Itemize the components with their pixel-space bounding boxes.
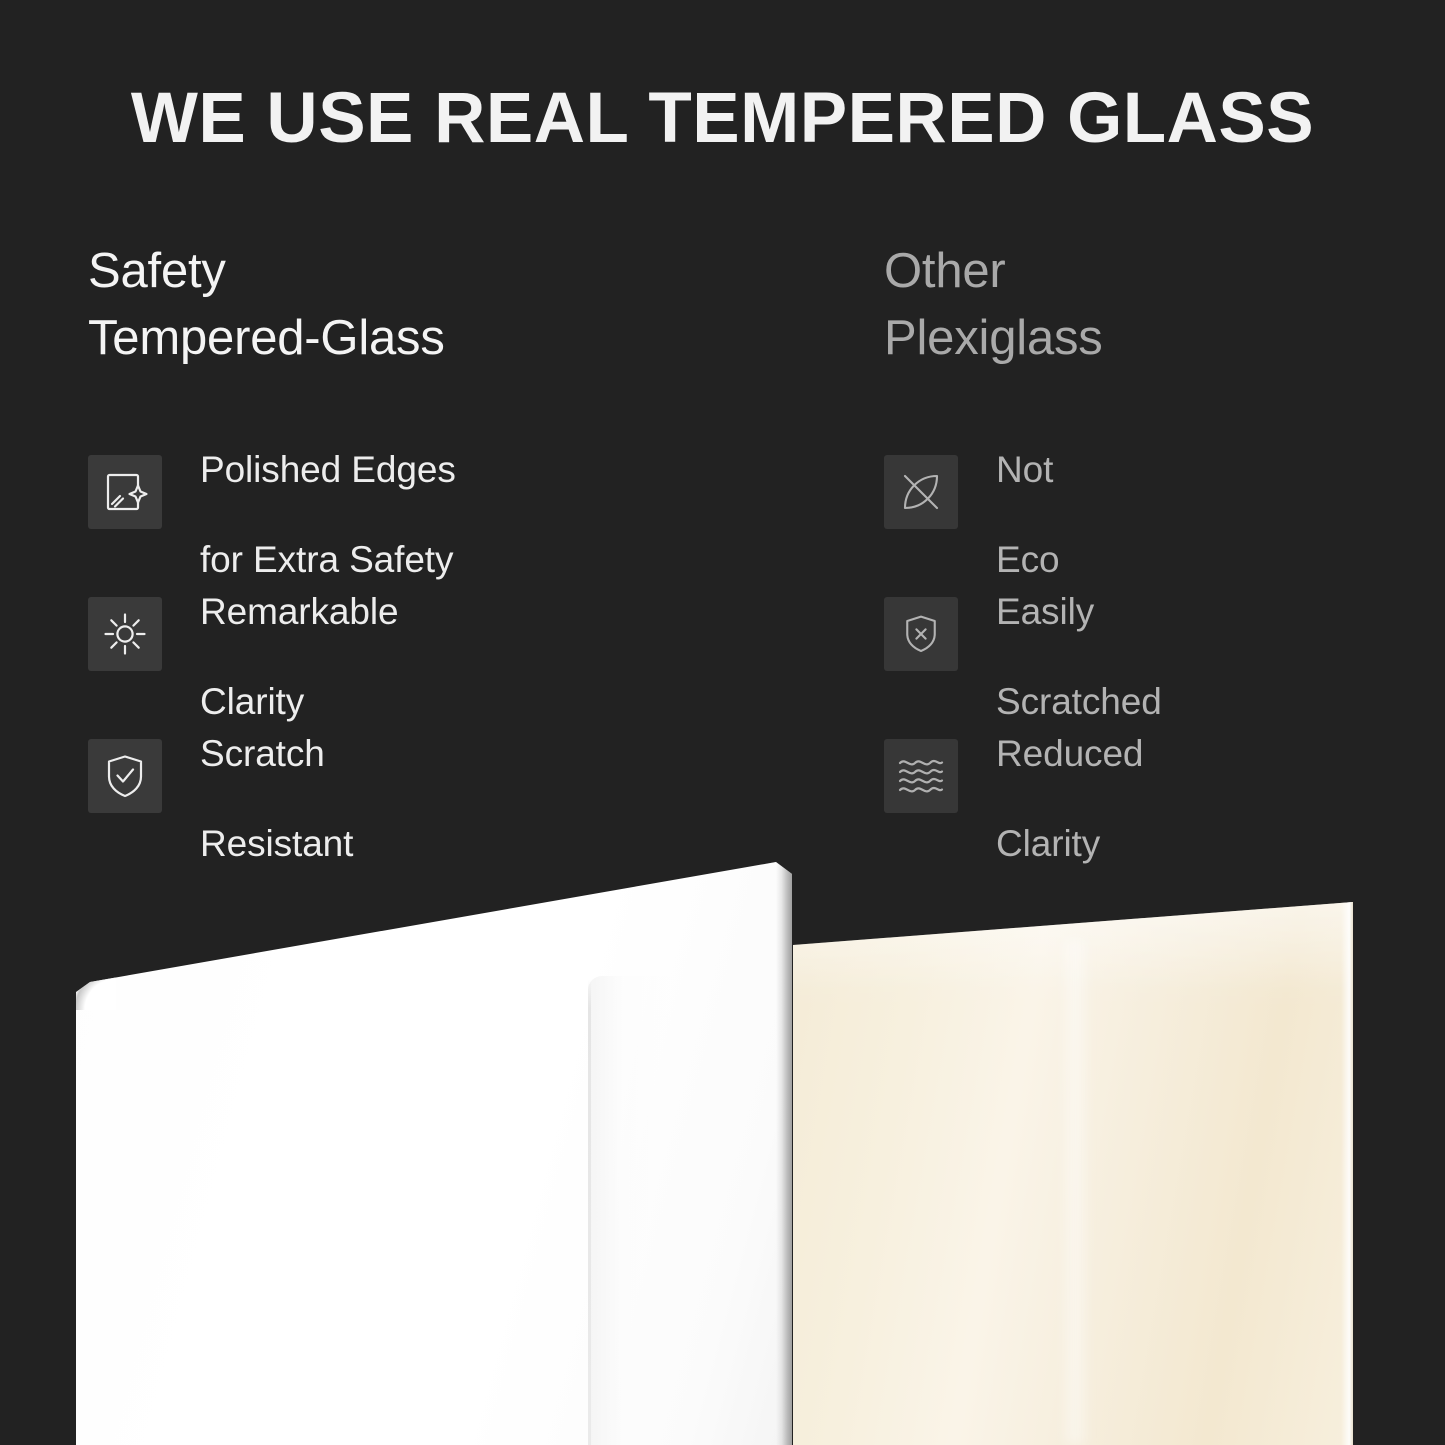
column-heading-tempered-glass: Safety Tempered-Glass <box>88 238 788 371</box>
feature-scratch-resistant: Scratch Resistant <box>88 727 788 825</box>
tempered-glass-reflection-edge <box>588 980 591 1445</box>
column-heading-line2: Tempered-Glass <box>88 305 788 372</box>
feature-remarkable-clarity: Remarkable Clarity <box>88 585 788 683</box>
tempered-glass-corner-highlight <box>76 970 116 1010</box>
plexiglass-panel <box>793 840 1353 1445</box>
column-heading-plexiglass: Other Plexiglass <box>884 238 1404 371</box>
plexiglass-column: Other Plexiglass Not Eco <box>884 238 1404 371</box>
polished-glass-pane-icon <box>88 455 162 529</box>
feature-reduced-clarity: Reduced Clarity <box>884 727 1404 825</box>
glass-panel-comparison-image <box>0 840 1445 1445</box>
tempered-glass-panel <box>76 840 792 1445</box>
feature-polished-edges: Polished Edges for Extra Safety <box>88 443 788 541</box>
shield-x-icon <box>884 597 958 671</box>
page-title: WE USE REAL TEMPERED GLASS <box>0 82 1445 157</box>
feature-easily-scratched: Easily Scratched <box>884 585 1404 683</box>
feature-label-line1: Scratch <box>200 733 325 774</box>
plexiglass-sheen <box>1062 940 1088 1445</box>
column-heading-line1: Other <box>884 238 1404 305</box>
feature-label-line1: Reduced <box>996 733 1143 774</box>
feature-label-line1: Easily <box>996 591 1094 632</box>
feature-label-line1: Polished Edges <box>200 449 456 490</box>
tempered-glass-right-edge <box>776 840 792 1445</box>
wavy-distortion-icon <box>884 739 958 813</box>
product-comparison-infographic: WE USE REAL TEMPERED GLASS Safety Temper… <box>0 0 1445 1445</box>
plexiglass-feature-list: Not Eco Easily Scratched <box>884 443 1404 869</box>
leaf-off-icon <box>884 455 958 529</box>
plexiglass-right-edge <box>1341 840 1353 1445</box>
sun-clarity-icon <box>88 597 162 671</box>
feature-not-eco: Not Eco <box>884 443 1404 541</box>
tempered-glass-reflection <box>588 976 783 1445</box>
column-heading-line2: Plexiglass <box>884 305 1404 372</box>
tempered-glass-feature-list: Polished Edges for Extra Safety <box>88 443 788 869</box>
feature-label-line1: Remarkable <box>200 591 398 632</box>
tempered-glass-column: Safety Tempered-Glass Polished Edges for… <box>88 238 788 371</box>
feature-label-line1: Not <box>996 449 1053 490</box>
column-heading-line1: Safety <box>88 238 788 305</box>
shield-check-icon <box>88 739 162 813</box>
tempered-glass-top-bevel <box>76 840 792 990</box>
